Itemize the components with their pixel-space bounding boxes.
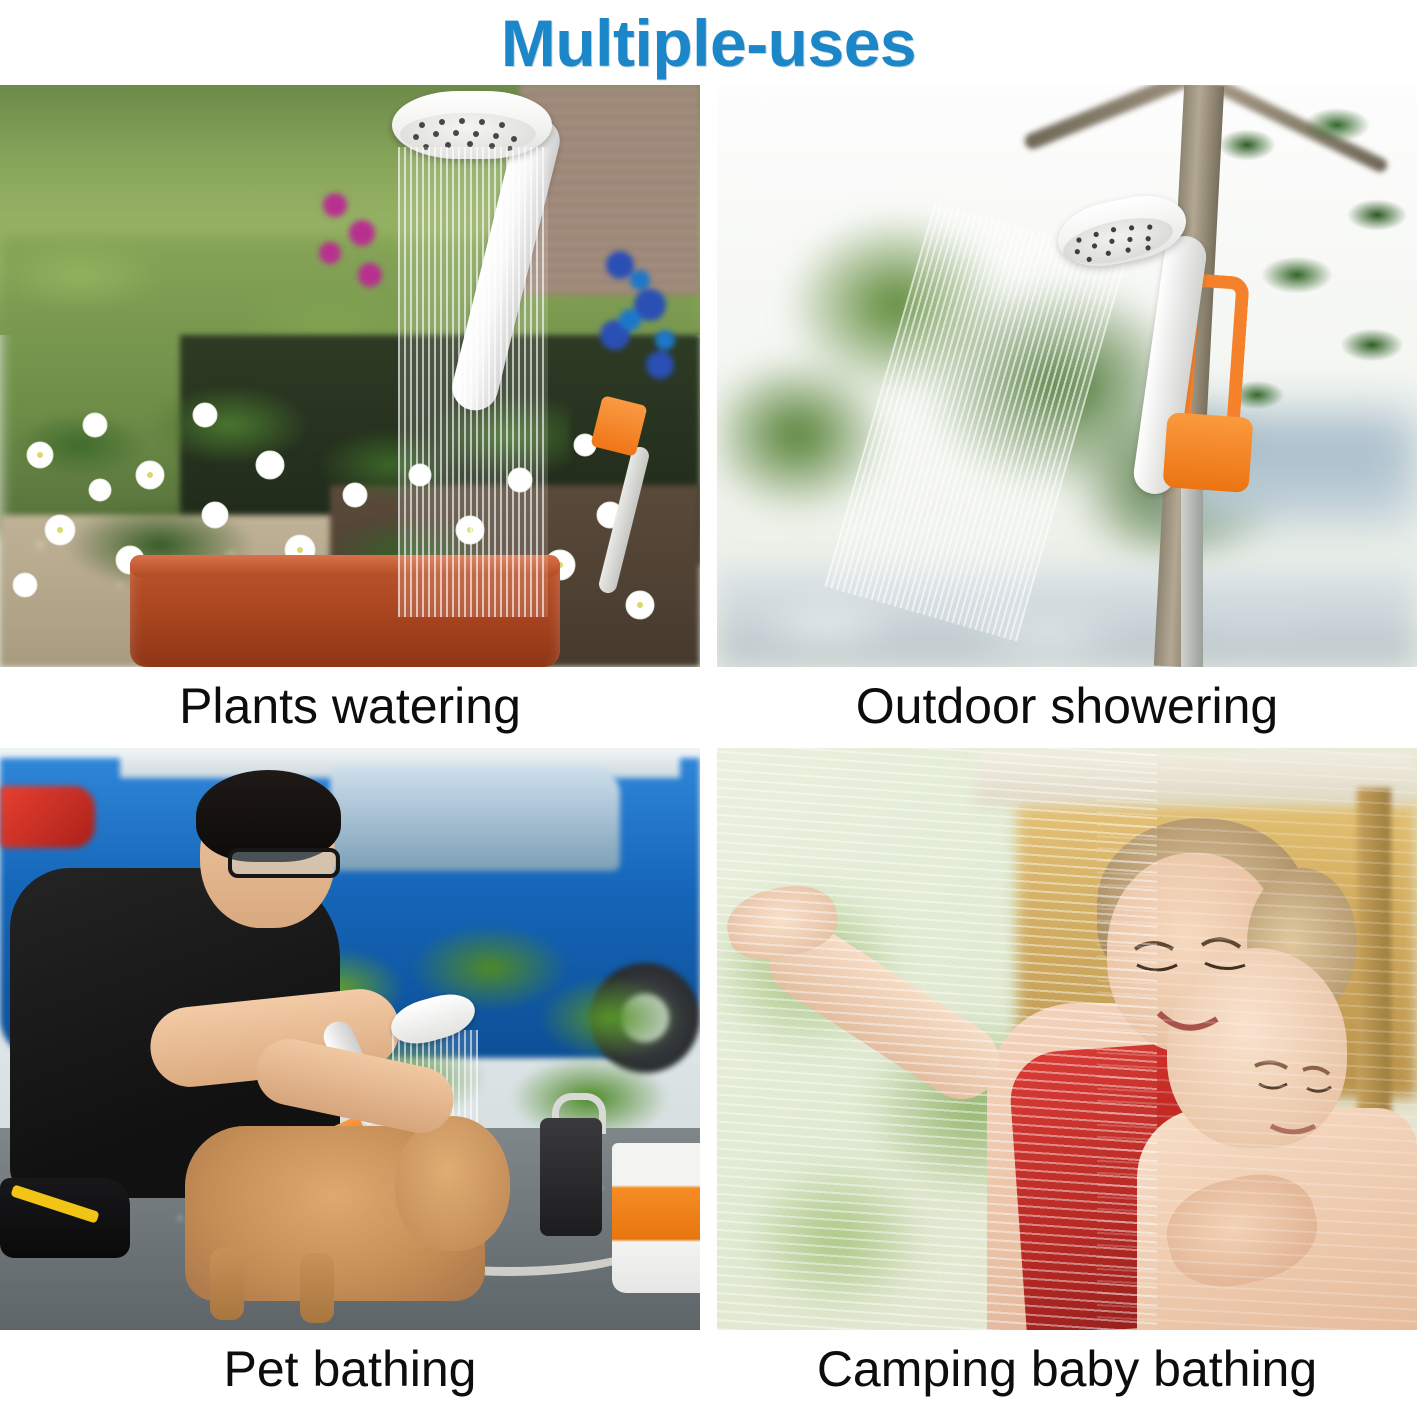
water-spray-light [1097, 748, 1417, 1330]
caption-camping-baby-bathing: Camping baby bathing [717, 1330, 1417, 1408]
background-parked-cars [717, 565, 1417, 667]
panel-grid: Plants watering [0, 85, 1417, 1389]
photo-plants-watering [0, 85, 700, 667]
panel-outdoor-showering: Outdoor showering [717, 85, 1417, 745]
photo-camping-baby-bathing [717, 748, 1417, 1330]
eyeglasses [228, 848, 340, 878]
multiple-uses-infographic: Multiple-uses [0, 0, 1417, 1389]
caption-pet-bathing: Pet bathing [0, 1330, 700, 1408]
poodle-leg [210, 1248, 244, 1320]
photo-outdoor-showering [717, 85, 1417, 667]
poodle-leg [300, 1253, 334, 1323]
panel-camping-baby-bathing: Camping baby bathing [717, 748, 1417, 1408]
caption-text: Plants watering [179, 681, 521, 731]
caption-text: Camping baby bathing [817, 1344, 1317, 1394]
panel-pet-bathing: Pet bathing [0, 748, 700, 1408]
photo-pet-bathing [0, 748, 700, 1330]
water-spray [717, 748, 1157, 1330]
page-title: Multiple-uses [501, 10, 916, 76]
caption-text: Outdoor showering [856, 681, 1278, 731]
poodle-head [395, 1116, 510, 1251]
caption-plants-watering: Plants watering [0, 667, 700, 745]
caption-outdoor-showering: Outdoor showering [717, 667, 1417, 745]
header: Multiple-uses [0, 0, 1417, 85]
orange-clip-bracket [1162, 412, 1253, 493]
collapsible-bucket [612, 1143, 700, 1293]
suv-taillight [0, 786, 95, 848]
water-spray [398, 147, 548, 617]
suv-window [330, 766, 620, 871]
caption-text: Pet bathing [224, 1344, 477, 1394]
panel-plants-watering: Plants watering [0, 85, 700, 745]
shower-pole [1181, 485, 1203, 667]
blue-flowers [580, 225, 700, 425]
portable-pump [540, 1118, 602, 1236]
